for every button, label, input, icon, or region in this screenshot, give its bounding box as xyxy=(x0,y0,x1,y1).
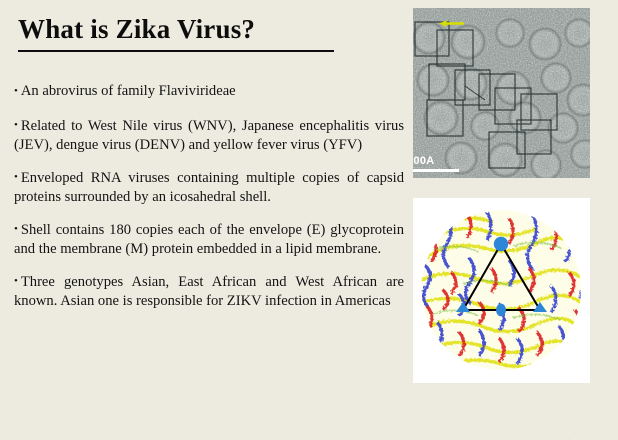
cryo-em-micrograph-image: 500A xyxy=(413,8,590,178)
list-item-text: Related to West Nile virus (WNV), Japane… xyxy=(14,118,404,153)
bullet-marker: • xyxy=(14,275,21,287)
list-item-text: Three genotypes Asian, East African and … xyxy=(14,274,404,309)
bullet-marker: • xyxy=(14,119,21,131)
micrograph-particle-boxes xyxy=(413,8,590,178)
bullet-list: •An abrovirus of family Flavivirideae •R… xyxy=(14,82,404,311)
bullet-marker: • xyxy=(14,223,21,235)
list-item: •Related to West Nile virus (WNV), Japan… xyxy=(14,117,404,155)
bullet-marker: • xyxy=(14,85,21,97)
capsid-ribbon-model xyxy=(413,198,590,383)
page-title: What is Zika Virus? xyxy=(18,14,255,45)
list-item: •Three genotypes Asian, East African and… xyxy=(14,273,404,311)
title-underline xyxy=(18,50,334,52)
list-item-text: Shell contains 180 copies each of the en… xyxy=(14,222,404,257)
list-item: •Enveloped RNA viruses containing multip… xyxy=(14,169,404,207)
watermark: · · · · · xyxy=(574,430,608,437)
scale-bar-line xyxy=(413,169,459,172)
scale-bar-label: 500A xyxy=(413,156,475,167)
five-fold-axis-marker xyxy=(494,237,508,251)
list-item-text: Enveloped RNA viruses containing multipl… xyxy=(14,170,404,205)
list-item: •Shell contains 180 copies each of the e… xyxy=(14,221,404,259)
slide: What is Zika Virus? •An abrovirus of fam… xyxy=(0,0,618,440)
micrograph-pointer-arrow xyxy=(439,20,465,27)
micrograph-scale-bar: 500A xyxy=(415,156,475,172)
two-fold-axis-marker xyxy=(496,304,506,317)
bullet-marker: • xyxy=(14,171,21,183)
zika-capsid-structure-image xyxy=(413,198,590,383)
list-item-text: An abrovirus of family Flavivirideae xyxy=(21,83,236,99)
list-item: •An abrovirus of family Flavivirideae xyxy=(14,82,404,101)
